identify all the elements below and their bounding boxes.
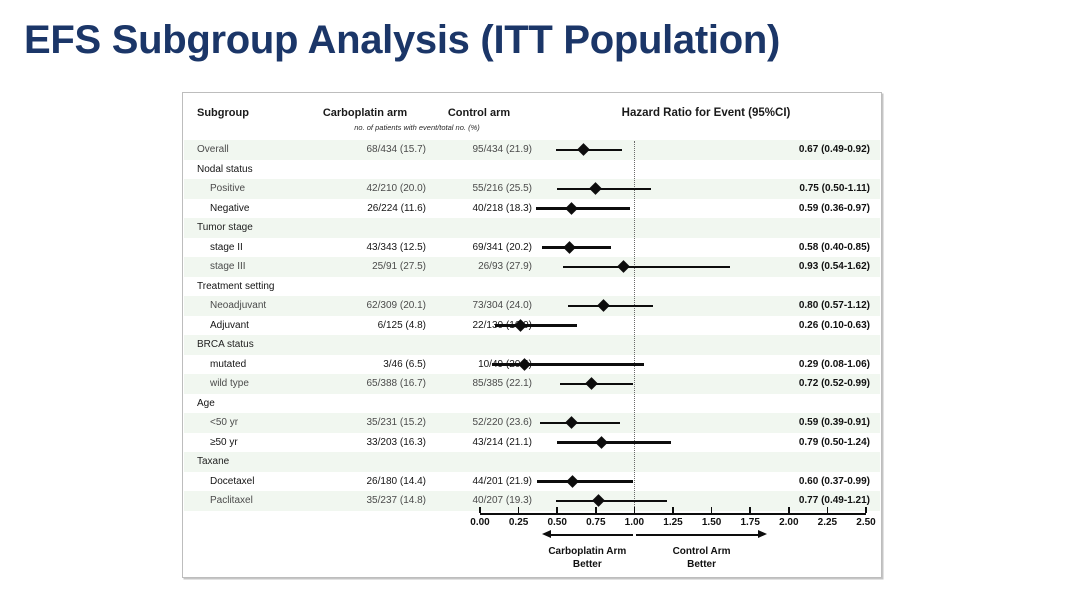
- left-direction-arrow-head-icon: [542, 530, 551, 538]
- axis-tick-label: 0.25: [509, 517, 528, 528]
- axis-tick-label: 1.00: [625, 517, 644, 528]
- forest-plot-panel: Subgroup Carboplatin arm Control arm Haz…: [182, 92, 882, 578]
- right-direction-label: Control ArmBetter: [673, 545, 731, 571]
- axis-tick-label: 1.75: [740, 517, 759, 528]
- axis-tick-label: 0.75: [586, 517, 605, 528]
- left-direction-label-line1: Carboplatin Arm: [548, 545, 626, 558]
- axis-tick-label: 0.50: [547, 517, 566, 528]
- axis-tick: [672, 507, 674, 513]
- left-direction-arrow-line: [549, 534, 633, 536]
- axis-tick: [711, 507, 713, 513]
- axis-tick: [518, 507, 520, 513]
- right-direction-arrow-line: [636, 534, 760, 536]
- right-direction-arrow-head-icon: [758, 530, 767, 538]
- axis-tick-label: 1.50: [702, 517, 721, 528]
- axis-tick: [595, 507, 597, 513]
- page-title: EFS Subgroup Analysis (ITT Population): [24, 18, 780, 63]
- axis-tick-label: 1.25: [663, 517, 682, 528]
- axis-tick: [788, 507, 790, 513]
- slide-canvas: EFS Subgroup Analysis (ITT Population) S…: [0, 0, 1080, 597]
- axis-tick: [865, 507, 867, 513]
- axis-tick: [479, 507, 481, 513]
- right-direction-label-line1: Control Arm: [673, 545, 731, 558]
- axis-tick: [827, 507, 829, 513]
- axis-tick-label: 2.50: [856, 517, 875, 528]
- axis-tick: [634, 507, 636, 513]
- axis-tick: [556, 507, 558, 513]
- left-direction-label: Carboplatin ArmBetter: [548, 545, 626, 571]
- axis-tick-label: 2.00: [779, 517, 798, 528]
- axis-tick-label: 2.25: [818, 517, 837, 528]
- x-axis: 0.000.250.500.751.001.251.501.752.002.25…: [183, 93, 883, 579]
- right-direction-label-line2: Better: [673, 558, 731, 571]
- axis-tick-label: 0.00: [470, 517, 489, 528]
- axis-baseline: [480, 513, 866, 515]
- axis-tick: [749, 507, 751, 513]
- left-direction-label-line2: Better: [548, 558, 626, 571]
